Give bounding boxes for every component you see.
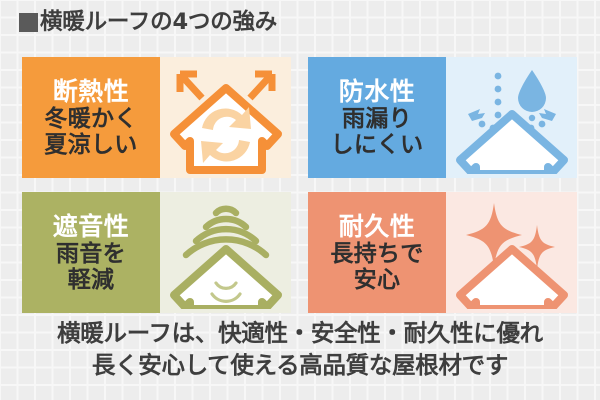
panel-subline-2: 軽減	[68, 267, 115, 293]
feature-panel-insulation: 断熱性 冬暖かく 夏涼しい	[22, 57, 291, 178]
panel-subline-1: 冬暖かく	[44, 106, 137, 132]
panel-subline-1: 雨音を	[56, 241, 126, 267]
panel-text-insulation: 断熱性 冬暖かく 夏涼しい	[22, 57, 160, 178]
panel-subline-1: 雨漏り	[342, 106, 412, 132]
panel-heading: 防水性	[339, 78, 416, 106]
panel-subline-2: 安心	[354, 267, 401, 293]
panel-text-durability: 耐久性 長持ちで 安心	[308, 192, 446, 313]
house-sound-waves-icon	[166, 197, 286, 309]
panel-text-soundproof: 遮音性 雨音を 軽減	[22, 192, 160, 313]
house-sparkle-icon	[452, 197, 572, 309]
infographic-page: 横暖ルーフの4つの強み 断熱性 冬暖かく 夏涼しい	[0, 0, 600, 400]
page-title-text: 横暖ルーフの4つの強み	[40, 11, 277, 34]
page-title: 横暖ルーフの4つの強み	[19, 11, 277, 34]
panel-subline-2: しにくい	[331, 132, 424, 158]
panel-heading: 断熱性	[53, 78, 130, 106]
panel-icon-area-waterproof	[446, 57, 577, 178]
panel-subline-1: 長持ちで	[330, 241, 423, 267]
panel-heading: 遮音性	[53, 213, 130, 241]
panel-heading: 耐久性	[339, 213, 416, 241]
panel-subline-2: 夏涼しい	[44, 132, 137, 158]
panel-icon-area-durability	[446, 192, 577, 313]
caption-line-2: 長く安心して使える高品質な屋根材です	[0, 350, 600, 382]
square-bullet-icon	[19, 13, 38, 32]
feature-panel-soundproof: 遮音性 雨音を 軽減	[22, 192, 291, 313]
house-water-drop-icon	[452, 62, 572, 174]
panel-icon-area-insulation	[160, 57, 291, 178]
summary-caption: 横暖ルーフは、快適性・安全性・耐久性に優れ 長く安心して使える高品質な屋根材です	[0, 318, 600, 381]
feature-panel-waterproof: 防水性 雨漏り しにくい	[308, 57, 577, 178]
panel-icon-area-soundproof	[160, 192, 291, 313]
feature-panel-durability: 耐久性 長持ちで 安心	[308, 192, 577, 313]
house-recycle-arrows-icon	[166, 62, 286, 174]
panel-text-waterproof: 防水性 雨漏り しにくい	[308, 57, 446, 178]
caption-line-1: 横暖ルーフは、快適性・安全性・耐久性に優れ	[0, 318, 600, 350]
